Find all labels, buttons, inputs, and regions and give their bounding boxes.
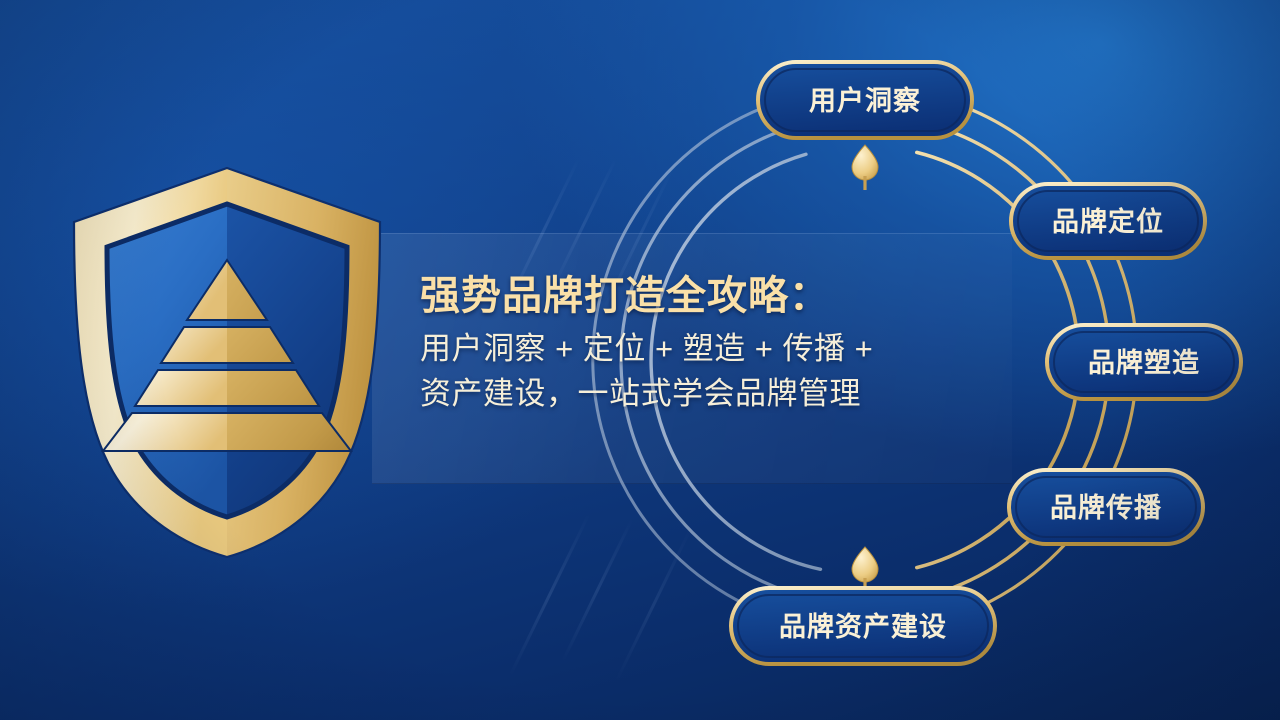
cycle-node-label: 用户洞察 xyxy=(809,85,921,116)
top-connector-node xyxy=(852,145,878,190)
cycle-node-user-insight[interactable]: 用户洞察 xyxy=(758,62,972,138)
subtitle-line-1: 用户洞察 + 定位 + 塑造 + 传播 + xyxy=(420,327,1020,372)
cycle-node-label: 品牌塑造 xyxy=(1088,348,1200,378)
page-title: 强势品牌打造全攻略： xyxy=(420,272,1020,321)
headline-block: 强势品牌打造全攻略： 用户洞察 + 定位 + 塑造 + 传播 + 资产建设，一站… xyxy=(420,272,1020,417)
cycle-node-brand-assets[interactable]: 品牌资产建设 xyxy=(731,588,995,664)
cycle-node-label: 品牌传播 xyxy=(1050,493,1162,523)
subtitle-line-2: 资产建设，一站式学会品牌管理 xyxy=(420,372,1020,417)
slide-canvas: 用户洞察品牌定位品牌塑造品牌传播品牌资产建设 强势品牌打造全攻略： 用户洞察 +… xyxy=(0,0,1280,720)
cycle-node-brand-shaping[interactable]: 品牌塑造 xyxy=(1047,325,1241,399)
cycle-node-label: 品牌定位 xyxy=(1052,206,1164,237)
cycle-node-brand-comms[interactable]: 品牌传播 xyxy=(1009,470,1203,544)
shield-pyramid-logo xyxy=(62,160,392,560)
bottom-connector-node xyxy=(852,547,878,592)
cycle-node-brand-positioning[interactable]: 品牌定位 xyxy=(1011,184,1205,258)
cycle-node-label: 品牌资产建设 xyxy=(779,612,947,642)
